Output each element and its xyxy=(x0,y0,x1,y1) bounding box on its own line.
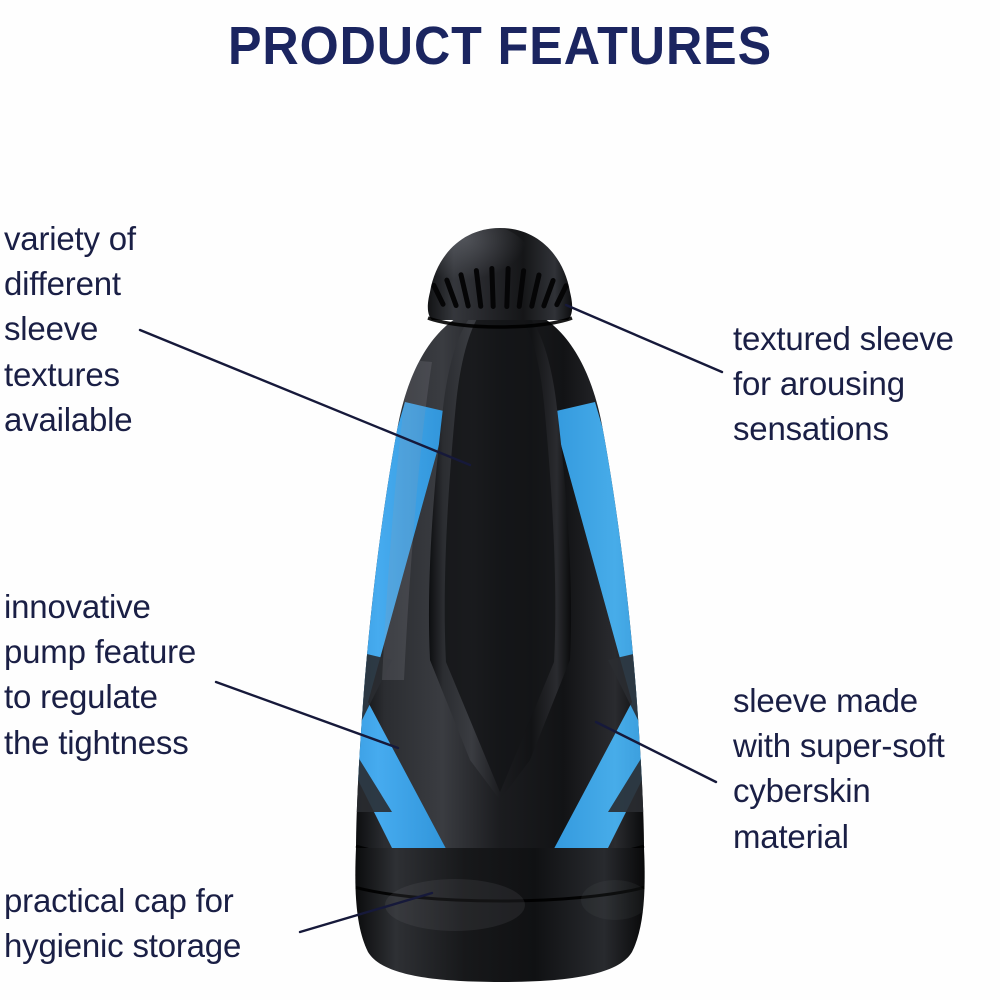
callout-material: sleeve made with super-soft cyberskin ma… xyxy=(733,678,1000,859)
product-body-group xyxy=(250,224,750,982)
callout-textures: variety of different sleeve textures ava… xyxy=(4,216,264,442)
callout-cap: practical cap for hygienic storage xyxy=(4,878,334,968)
base-highlight-right xyxy=(581,880,649,920)
callout-sleeve: textured sleeve for arousing sensations xyxy=(733,316,1000,452)
product-features-infographic: PRODUCT FEATURES xyxy=(0,0,1000,1000)
leader-line-sleeve xyxy=(566,305,722,372)
base-highlight xyxy=(385,879,525,931)
callout-pump: innovative pump feature to regulate the … xyxy=(4,584,294,765)
